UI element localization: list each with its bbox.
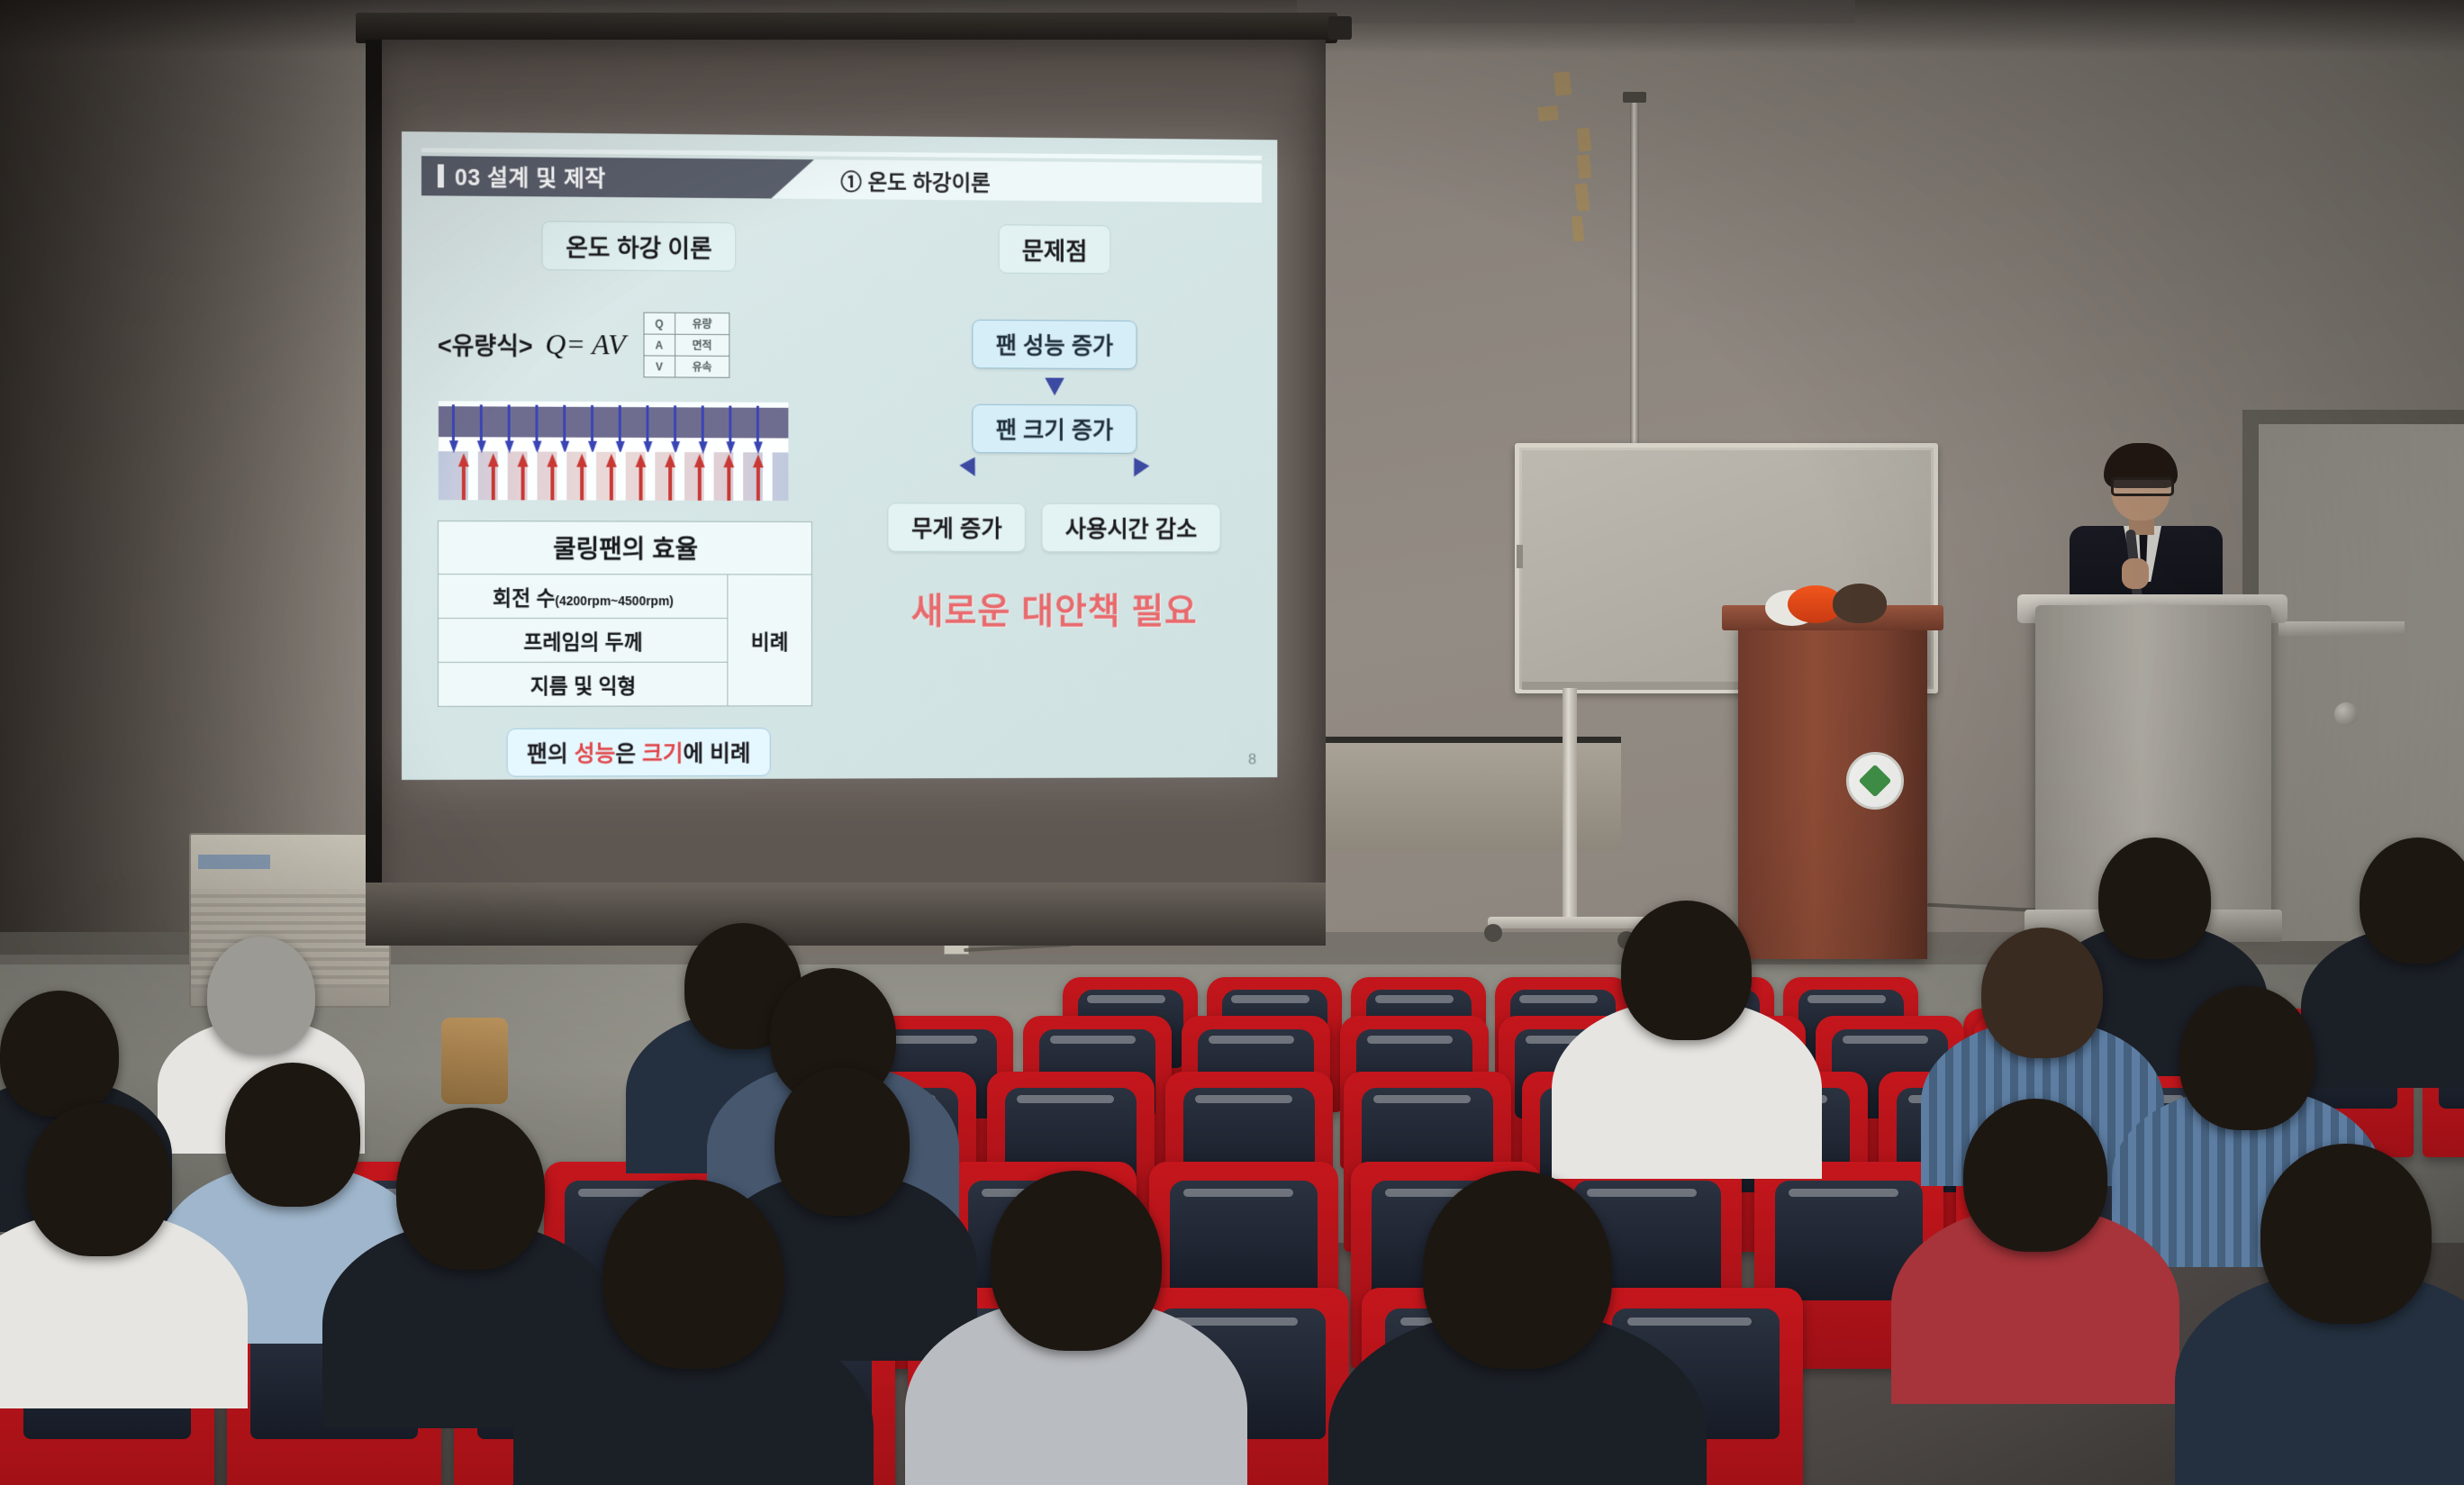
seat-highlight xyxy=(1195,1095,1292,1103)
screen-bottom-bar xyxy=(366,883,1326,946)
conclusion-middle: 은 xyxy=(615,741,642,766)
airflow-up-arrow-icon xyxy=(547,454,557,467)
airflow-down-arrow-icon xyxy=(477,440,486,453)
flow-branches: 무게 증가 사용시간 감소 xyxy=(865,503,1243,552)
audience-member-head xyxy=(2098,838,2211,959)
efficiency-relation: 비례 xyxy=(728,575,812,706)
audience-member-head xyxy=(1423,1171,1612,1369)
seat-highlight xyxy=(1209,1036,1295,1044)
heatsink-fin xyxy=(557,452,566,501)
table-row: V 유속 xyxy=(644,356,729,377)
door-header xyxy=(2242,410,2464,424)
audience-member-head xyxy=(2360,838,2464,964)
legend-symbol: A xyxy=(644,334,675,356)
projected-slide: 03 설계 및 제작 ① 온도 하강이론 온도 하강 이론 <유량식> Q= A… xyxy=(402,131,1277,780)
legend-meaning: 면적 xyxy=(675,334,729,356)
wall-tape-mark xyxy=(1577,154,1592,178)
seat-highlight xyxy=(1050,1036,1137,1044)
seat-highlight xyxy=(1807,995,1886,1003)
audience-member-head xyxy=(0,991,119,1117)
podium-emblem-icon xyxy=(1846,752,1904,810)
lecture-hall-photo: 03 설계 및 제작 ① 온도 하강이론 온도 하강 이론 <유량식> Q= A… xyxy=(0,0,2464,1485)
emblem-diamond-icon xyxy=(1859,765,1892,798)
formula-label: <유량식> xyxy=(438,326,533,362)
lectern-side-shelf xyxy=(2278,621,2405,636)
seat-highlight xyxy=(1519,995,1598,1003)
slide-subsection-title: ① 온도 하강이론 xyxy=(840,164,990,196)
wall-tape-mark xyxy=(1537,105,1559,122)
conclusion-box: 팬의 성능은 크기에 비례 xyxy=(506,728,771,776)
airflow-up-arrow-icon xyxy=(576,454,587,467)
heatsink-plate xyxy=(439,406,788,438)
airflow-up-arrow-icon xyxy=(639,465,643,501)
seat-highlight xyxy=(892,1036,978,1044)
table-row: 쿨링팬의 효율 xyxy=(438,521,811,575)
heatsink-fin xyxy=(616,452,626,501)
flow-step-2-wrap: 팬 크기 증가 xyxy=(865,403,1243,454)
cabinet-label xyxy=(198,855,270,869)
flow-split xyxy=(865,453,1243,504)
whiteboard-stand-post xyxy=(1563,688,1577,927)
audience-member-head xyxy=(991,1171,1162,1351)
slide-subsection: ① 온도 하강이론 xyxy=(840,159,990,200)
airflow-up-arrow-icon xyxy=(550,465,554,501)
airflow-up-arrow-icon xyxy=(723,454,734,467)
heatsink-fin xyxy=(528,451,538,500)
conclusion-highlight-2: 크기 xyxy=(642,741,684,766)
left-column-title: 온도 하강 이론 xyxy=(541,221,736,271)
seat-highlight xyxy=(1173,1317,1298,1326)
legend-meaning: 유속 xyxy=(675,356,729,377)
slide-header: 03 설계 및 제작 ① 온도 하강이론 xyxy=(421,148,1262,211)
object-on-podium xyxy=(1833,584,1887,623)
flow-branch-2: 사용시간 감소 xyxy=(1042,503,1221,553)
arrow-down-icon xyxy=(1045,377,1064,395)
airflow-up-arrow-icon xyxy=(636,454,647,467)
screen-roller-knob xyxy=(1328,16,1352,40)
audience-member-head xyxy=(225,1063,360,1207)
airflow-up-arrow-icon xyxy=(606,454,617,467)
airflow-up-arrow-icon xyxy=(610,465,613,501)
airflow-up-arrow-icon xyxy=(518,453,529,466)
slide-section-chip: 03 설계 및 제작 xyxy=(421,156,814,199)
flow-formula-row: <유량식> Q= AV Q 유량 A 면적 V 유속 xyxy=(438,311,838,378)
audience-member-head xyxy=(2179,986,2315,1130)
table-row: 회전 수(4200rpm~4500rpm) 비례 xyxy=(438,575,811,619)
efficiency-table-header: 쿨링팬의 효율 xyxy=(438,521,811,575)
table-row: A 면적 xyxy=(644,334,729,356)
wall-tape-mark xyxy=(1577,127,1592,151)
efficiency-factor-2: 프레임의 두께 xyxy=(438,619,727,663)
arrow-down-right-icon xyxy=(1127,457,1150,481)
heatsink-fin xyxy=(675,452,684,501)
legend-symbol: Q xyxy=(644,312,675,334)
table-row: Q 유량 xyxy=(644,312,729,334)
presenter-in-suit xyxy=(2053,443,2233,614)
airflow-up-arrow-icon xyxy=(580,465,584,501)
heatsink-gap xyxy=(439,437,788,452)
audience-member-head xyxy=(603,1180,784,1369)
heatsink-fin xyxy=(586,452,596,501)
audience-member-head xyxy=(1621,901,1752,1040)
audience-member-head xyxy=(1963,1099,2107,1252)
heatsink-fin xyxy=(468,451,478,500)
presenter-hand xyxy=(2122,558,2149,589)
seat-highlight xyxy=(1017,1095,1114,1103)
audience-member-head xyxy=(775,1067,910,1216)
seat-highlight xyxy=(1587,1189,1697,1197)
conclusion-highlight-1: 성능 xyxy=(575,741,616,766)
symbol-legend-table: Q 유량 A 면적 V 유속 xyxy=(643,312,729,378)
right-column-title: 문제점 xyxy=(998,224,1110,274)
heatsink-fin xyxy=(498,451,508,500)
airflow-up-arrow-icon xyxy=(521,464,525,500)
ceiling-strip xyxy=(1297,0,1855,23)
seat-highlight xyxy=(1231,995,1309,1003)
heatsink-airflow-diagram xyxy=(438,400,789,502)
slide-right-column: 문제점 팬 성능 증가 팬 크기 증가 무게 증가 사용시간 감소 새로 xyxy=(865,223,1243,634)
slide-left-column: 온도 하강 이론 <유량식> Q= AV Q 유량 A 면적 xyxy=(438,220,838,777)
efficiency-factor-1: 회전 수(4200rpm~4500rpm) xyxy=(438,575,727,619)
airflow-up-arrow-icon xyxy=(698,465,702,501)
projector-screen-case xyxy=(356,13,1337,43)
seat-highlight xyxy=(1789,1189,1898,1197)
airflow-up-arrow-icon xyxy=(462,464,466,500)
flow-step-1-wrap: 팬 성능 증가 xyxy=(865,319,1243,370)
seat-highlight xyxy=(1627,1317,1752,1326)
airflow-up-arrow-icon xyxy=(756,465,760,501)
whiteboard-stand-foot xyxy=(1488,917,1650,928)
conclusion-suffix: 에 비례 xyxy=(683,741,750,766)
flow-step-1: 팬 성능 증가 xyxy=(972,320,1137,369)
slide-callout: 새로운 대안책 필요 xyxy=(865,582,1243,633)
slide-section-title: 03 설계 및 제작 xyxy=(455,160,606,194)
flow-step-2: 팬 크기 증가 xyxy=(972,404,1137,454)
heatsink-fin xyxy=(704,452,714,501)
slide-page-number: 8 xyxy=(1248,751,1256,769)
seat-highlight xyxy=(1373,1095,1471,1103)
audience-member-head xyxy=(207,937,315,1054)
seat-highlight xyxy=(1843,1036,1929,1044)
screen-left-edge xyxy=(366,40,382,945)
seat-highlight xyxy=(1375,995,1454,1003)
conclusion-wrap: 팬의 성능은 크기에 비례 xyxy=(438,710,838,777)
conclusion-prefix: 팬의 xyxy=(527,742,575,767)
audience-member-head xyxy=(1981,928,2103,1058)
heatsink-fin xyxy=(763,452,773,501)
factor-text: 회전 수 xyxy=(493,586,555,610)
left-title-wrap: 온도 하강 이론 xyxy=(438,220,838,272)
airflow-up-arrow-icon xyxy=(753,454,764,467)
airflow-up-arrow-icon xyxy=(668,465,672,501)
airflow-down-arrow-icon xyxy=(754,441,763,454)
wall-tape-mark xyxy=(1554,71,1572,96)
cooling-fan-efficiency-table: 쿨링팬의 효율 회전 수(4200rpm~4500rpm) 비례 프레임의 두께… xyxy=(438,521,812,707)
airflow-up-arrow-icon xyxy=(492,464,495,500)
seat-highlight xyxy=(1367,1036,1454,1044)
airflow-up-arrow-icon xyxy=(488,453,499,466)
wooden-chair-back xyxy=(441,1018,508,1104)
airflow-up-arrow-icon xyxy=(458,453,469,466)
wall-tape-mark xyxy=(1574,183,1590,211)
whiteboard-caster xyxy=(1484,924,1502,942)
section-tick-icon xyxy=(438,164,444,187)
pipe-cap-top xyxy=(1623,92,1646,103)
seat-highlight xyxy=(1183,1189,1293,1197)
door-handle-icon[interactable] xyxy=(2334,702,2358,726)
legend-meaning: 유량 xyxy=(675,312,729,334)
slide-header-bar: 03 설계 및 제작 ① 온도 하강이론 xyxy=(421,156,1262,203)
airflow-up-arrow-icon xyxy=(665,454,675,467)
formula-expression: Q= AV xyxy=(545,328,625,361)
audience-member-head xyxy=(27,1103,171,1256)
whiteboard-clip xyxy=(1517,545,1523,568)
factor-note: (4200rpm~4500rpm) xyxy=(555,593,673,608)
right-title-wrap: 문제점 xyxy=(865,223,1243,275)
seat-highlight xyxy=(1087,995,1165,1003)
airflow-up-arrow-icon xyxy=(694,454,705,467)
efficiency-factor-3: 지름 및 익형 xyxy=(438,662,727,706)
arrow-down-left-icon xyxy=(959,457,983,481)
audience-member-head xyxy=(2260,1144,2432,1324)
flow-branch-1: 무게 증가 xyxy=(888,503,1026,552)
airflow-down-arrow-icon xyxy=(449,440,458,453)
audience-member-head xyxy=(396,1108,545,1270)
heatsink-fin xyxy=(733,452,743,501)
legend-symbol: V xyxy=(644,356,675,377)
airflow-up-arrow-icon xyxy=(727,465,730,501)
seat-cushion xyxy=(1170,1181,1318,1300)
glasses-icon xyxy=(2111,477,2174,496)
heatsink-fin xyxy=(645,452,655,501)
